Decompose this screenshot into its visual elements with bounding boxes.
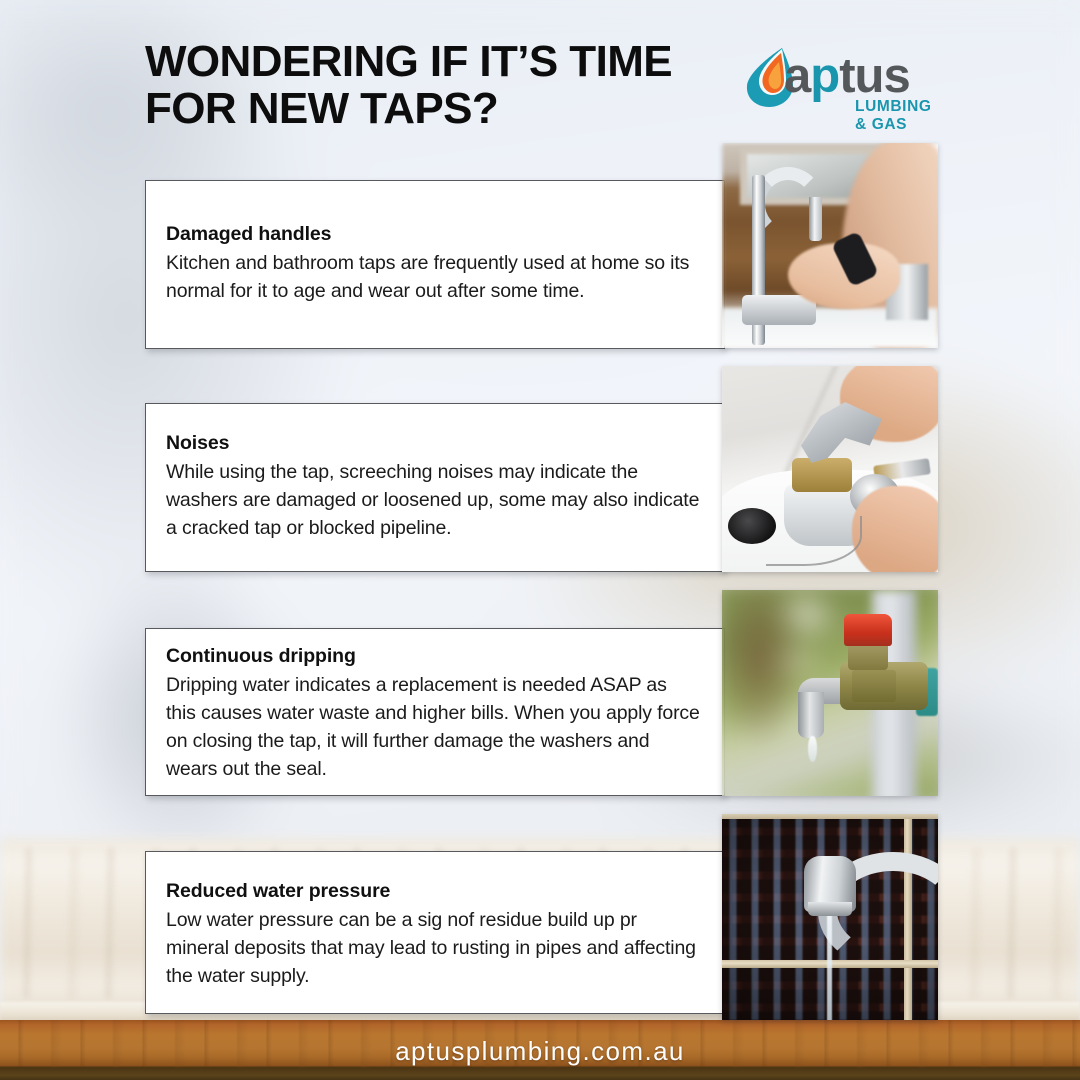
card-body: Dripping water indicates a replacement i…: [166, 671, 700, 783]
card-body: While using the tap, screeching noises m…: [166, 458, 700, 542]
brand-letter-p: p: [810, 49, 839, 103]
dripping-garden-tap-photo: [722, 590, 938, 796]
brand-wordmark: aptus: [784, 48, 910, 104]
card-title: Noises: [166, 432, 700, 455]
brand-tagline: LUMBING & GAS: [855, 98, 932, 134]
card-noises[interactable]: Noises While using the tap, screeching n…: [145, 403, 725, 572]
card-damaged-handles[interactable]: Damaged handles Kitchen and bathroom tap…: [145, 180, 725, 349]
card-title: Damaged handles: [166, 223, 700, 246]
running-tap-mosaic-photo: [722, 814, 938, 1020]
brand-letters-tus: tus: [839, 49, 910, 103]
brand-letter-a: a: [784, 49, 810, 103]
card-continuous-dripping[interactable]: Continuous dripping Dripping water indic…: [145, 628, 725, 796]
card-title: Continuous dripping: [166, 645, 700, 668]
brand-logo[interactable]: aptus LUMBING & GAS: [742, 46, 920, 124]
wrench-tap-repair-photo: [722, 366, 938, 572]
card-reduced-water-pressure[interactable]: Reduced water pressure Low water pressur…: [145, 851, 725, 1014]
card-title: Reduced water pressure: [166, 880, 700, 903]
card-body: Kitchen and bathroom taps are frequently…: [166, 249, 700, 305]
header: WONDERING IF IT’S TIME FOR NEW TAPS? apt…: [0, 0, 1080, 150]
faucet-hand-photo: [722, 143, 938, 348]
page-title: WONDERING IF IT’S TIME FOR NEW TAPS?: [145, 38, 745, 132]
card-body: Low water pressure can be a sig nof resi…: [166, 906, 700, 990]
website-url[interactable]: aptusplumbing.com.au: [0, 1036, 1080, 1067]
footer: aptusplumbing.com.au: [0, 1020, 1080, 1080]
